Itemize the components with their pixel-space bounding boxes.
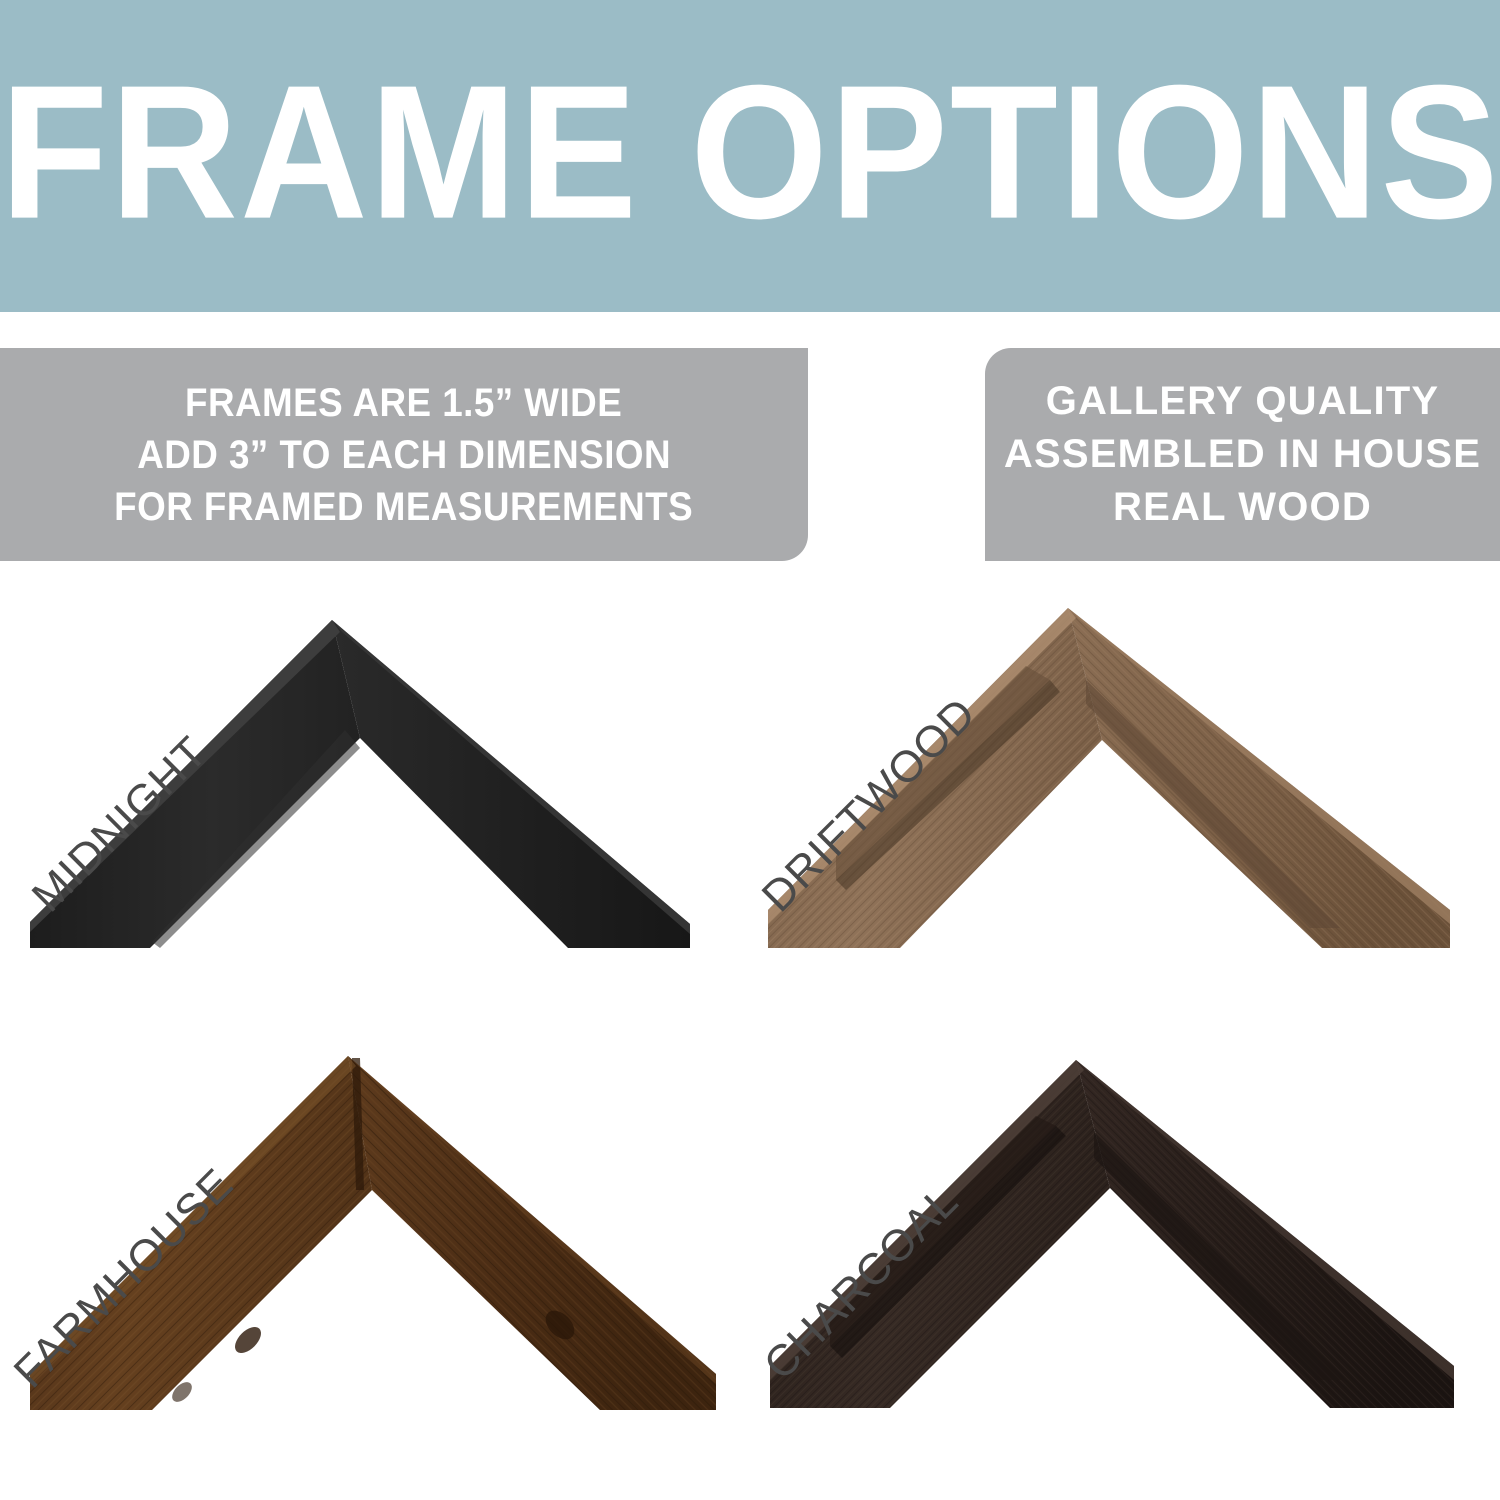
frame-options-grid: MIDNIGHT bbox=[0, 580, 1500, 1500]
badge-left-line-2: ADD 3” TO EACH DIMENSION bbox=[137, 429, 671, 481]
badge-right-line-2: ASSEMBLED IN HOUSE bbox=[1004, 428, 1481, 481]
badge-frame-measurements: FRAMES ARE 1.5” WIDE ADD 3” TO EACH DIME… bbox=[0, 348, 808, 561]
header-banner: FRAME OPTIONS bbox=[0, 0, 1500, 312]
badge-right-line-3: REAL WOOD bbox=[1113, 481, 1372, 534]
frame-option-driftwood[interactable]: DRIFTWOOD bbox=[750, 580, 1500, 1040]
badge-left-line-1: FRAMES ARE 1.5” WIDE bbox=[185, 377, 622, 429]
badge-quality-info: GALLERY QUALITY ASSEMBLED IN HOUSE REAL … bbox=[985, 348, 1500, 561]
badge-right-line-1: GALLERY QUALITY bbox=[1046, 375, 1440, 428]
frame-option-farmhouse[interactable]: FARMHOUSE bbox=[0, 1040, 750, 1500]
frame-option-midnight[interactable]: MIDNIGHT bbox=[0, 580, 750, 1040]
page-title: FRAME OPTIONS bbox=[0, 57, 1500, 254]
badge-left-line-3: FOR FRAMED MEASUREMENTS bbox=[115, 481, 694, 533]
frame-option-charcoal[interactable]: CHARCOAL bbox=[750, 1040, 1500, 1500]
